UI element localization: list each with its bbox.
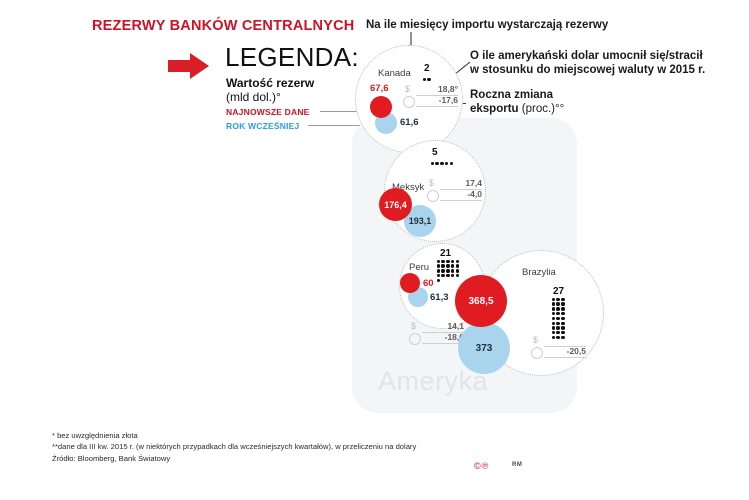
divider <box>440 200 482 201</box>
reserve-value-latest-peru: 60 <box>423 278 434 289</box>
month-dot <box>556 326 559 329</box>
import-months-kanada: 2 <box>424 63 430 74</box>
month-dot <box>451 264 454 267</box>
reserve-value-previous-brazylia: 373 <box>476 343 493 354</box>
heading-import-months: Na ile miesięcy importu wystarczają reze… <box>366 19 608 31</box>
arrow-right-icon <box>168 52 210 80</box>
month-dot <box>451 260 454 263</box>
reserve-bubble-latest-peru[interactable] <box>400 273 420 293</box>
month-dot <box>441 264 444 267</box>
export-change-kanada: -17,6 <box>418 95 458 106</box>
heading-dollar-line2: w stosunku do miejscowej waluty w 2015 r… <box>470 63 745 77</box>
month-dot <box>431 162 434 165</box>
month-dot <box>456 274 459 277</box>
month-dot <box>552 322 555 325</box>
month-dot <box>445 162 448 165</box>
divider <box>416 106 458 107</box>
import-months-dots-peru <box>436 259 462 283</box>
footnote-source: Źródło: Bloomberg, Bank Światowy <box>52 453 416 464</box>
usd-row: $ 14,1 <box>408 321 464 332</box>
month-dot <box>552 307 555 310</box>
month-dot <box>556 322 559 325</box>
heading-dollar-line1: O ile amerykański dolar umocnił się/stra… <box>470 49 745 63</box>
copyright-marks: ©℗ <box>474 461 489 471</box>
legend-subtitle-strong: Wartość rezerw <box>226 76 314 90</box>
micro-stats-meksyk: $ 17,4 -4,0 <box>426 178 482 200</box>
month-dot <box>561 322 564 325</box>
month-dot <box>456 264 459 267</box>
country-name-peru: Peru <box>409 262 429 273</box>
import-months-dots-kanada <box>422 77 446 82</box>
month-dot <box>441 260 444 263</box>
heading-export-thin: (proc.)°° <box>519 103 565 115</box>
export-cycle-icon <box>426 189 437 200</box>
export-row: -4,0 <box>426 189 482 200</box>
month-dot <box>556 317 559 320</box>
month-dot <box>561 302 564 305</box>
month-dot <box>440 162 443 165</box>
month-dot <box>561 298 564 301</box>
usd-row: $ 17,4 <box>426 178 482 189</box>
month-dot <box>437 260 440 263</box>
author-initials: RM <box>512 462 522 468</box>
dollar-icon: $ <box>530 335 541 346</box>
usd-row: $ 18,8° <box>402 84 458 95</box>
usd-change-meksyk: 17,4 <box>442 178 482 189</box>
country-name-brazylia: Brazylia <box>522 267 556 278</box>
heading-export-line1: Roczna zmiana <box>470 88 564 102</box>
month-dot <box>423 78 426 81</box>
export-row: -20,5 <box>530 346 586 357</box>
reserve-value-previous-peru: 61,3 <box>430 292 449 303</box>
reserve-value-previous-kanada: 61,6 <box>400 117 419 128</box>
reserve-value-latest-brazylia: 368,5 <box>468 296 493 307</box>
footnote-2: **dane dla III kw. 2015 r. (w niektórych… <box>52 441 416 452</box>
month-dot <box>456 260 459 263</box>
month-dot <box>552 312 555 315</box>
month-dot <box>446 274 449 277</box>
micro-stats-kanada: $ 18,8° -17,6 <box>402 84 458 106</box>
month-dot <box>441 274 444 277</box>
dollar-icon: $ <box>426 178 437 189</box>
month-dot <box>556 331 559 334</box>
usd-change-kanada: 18,8° <box>418 84 458 95</box>
month-dot <box>556 302 559 305</box>
heading-export-strong2: eksportu <box>470 103 519 115</box>
month-dot <box>561 326 564 329</box>
month-dot <box>451 274 454 277</box>
dollar-icon: $ <box>408 321 419 332</box>
page-title: REZERWY BANKÓW CENTRALNYCH <box>92 18 354 34</box>
month-dot <box>552 331 555 334</box>
import-months-dots-meksyk <box>430 161 460 166</box>
month-dot <box>561 312 564 315</box>
reserve-value-previous-meksyk: 193,1 <box>409 216 432 226</box>
heading-dollar-change: O ile amerykański dolar umocnił się/stra… <box>470 49 745 77</box>
reserve-value-latest-meksyk: 176,4 <box>384 200 407 210</box>
month-dot <box>427 78 430 81</box>
month-dot <box>556 307 559 310</box>
month-dot <box>561 307 564 310</box>
divider <box>544 357 586 358</box>
month-dot <box>456 269 459 272</box>
country-name-kanada: Kanada <box>378 68 411 79</box>
usd-change-peru: 14,1 <box>424 321 464 332</box>
micro-stats-brazylia: $ -20,5 <box>530 335 586 357</box>
month-dot <box>437 274 440 277</box>
month-dot <box>552 326 555 329</box>
legend-subtitle-units: (mld dol.)° <box>226 90 281 104</box>
micro-stats-peru: $ 14,1 -18,0 <box>408 321 464 343</box>
import-months-brazylia: 27 <box>553 286 564 297</box>
month-dot <box>561 331 564 334</box>
heading-export-change: Roczna zmiana eksportu (proc.)°° <box>470 88 564 116</box>
month-dot <box>450 162 453 165</box>
export-cycle-icon <box>402 95 413 106</box>
heading-export-line2: eksportu (proc.)°° <box>470 102 564 116</box>
reserve-bubble-previous-brazylia[interactable]: 373 <box>458 322 510 374</box>
legend-previous-label: ROK WCZEŚNIEJ <box>226 121 299 131</box>
legend-title: LEGENDA: <box>225 42 359 73</box>
reserve-bubble-latest-meksyk[interactable]: 176,4 <box>379 188 412 221</box>
month-dot <box>446 260 449 263</box>
legend-latest-label: NAJNOWSZE DANE <box>226 107 310 117</box>
month-dot <box>446 264 449 267</box>
export-change-meksyk: -4,0 <box>442 189 482 200</box>
import-months-peru: 21 <box>440 248 451 259</box>
month-dot <box>556 312 559 315</box>
export-row: -17,6 <box>402 95 458 106</box>
usd-row: $ <box>530 335 586 346</box>
month-dot <box>437 279 440 282</box>
reserve-bubble-latest-brazylia[interactable]: 368,5 <box>455 275 507 327</box>
month-dot <box>552 302 555 305</box>
dollar-icon: $ <box>402 84 413 95</box>
month-dot <box>435 162 438 165</box>
import-months-dots-brazylia <box>551 297 567 340</box>
footnote-1: * bez uwzględnienia złota <box>52 430 416 441</box>
month-dot <box>556 298 559 301</box>
month-dot <box>561 317 564 320</box>
reserve-value-latest-kanada: 67,6 <box>370 83 389 94</box>
month-dot <box>437 264 440 267</box>
month-dot <box>437 269 440 272</box>
export-row: -18,0 <box>408 332 464 343</box>
export-change-brazylia: -20,5 <box>546 346 586 357</box>
reserve-bubble-latest-kanada[interactable] <box>370 96 392 118</box>
month-dot <box>552 298 555 301</box>
import-months-meksyk: 5 <box>432 147 438 158</box>
export-cycle-icon <box>530 346 541 357</box>
footnotes: * bez uwzględnienia złota **dane dla III… <box>52 430 416 464</box>
month-dot <box>441 269 444 272</box>
month-dot <box>446 269 449 272</box>
export-cycle-icon <box>408 332 419 343</box>
month-dot <box>552 317 555 320</box>
month-dot <box>451 269 454 272</box>
